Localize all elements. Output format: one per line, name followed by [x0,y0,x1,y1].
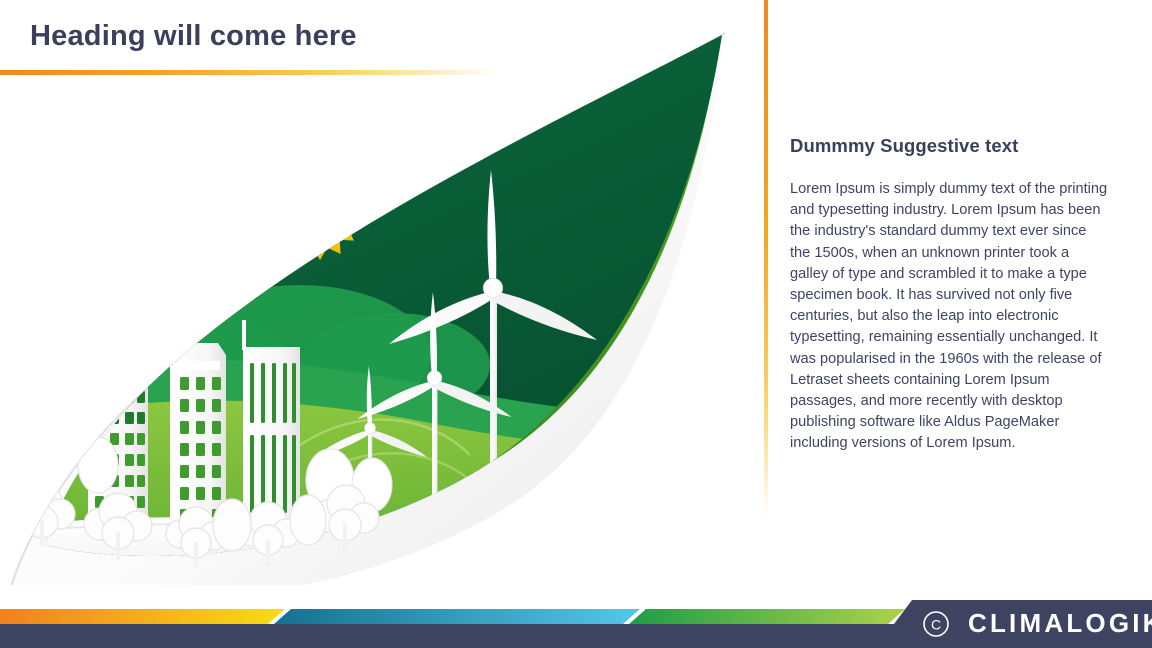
footer-segment-orange [0,609,285,624]
panel-body-text: Lorem Ipsum is simply dummy text of the … [790,179,1110,455]
slide-canvas: Heading will come here [0,0,1152,648]
brand-wordmark: CLIMALOGIK [968,608,1152,638]
footer: C CLIMALOGIK [0,600,1152,648]
panel-heading: Dummmy Suggestive text [790,135,1110,157]
footer-segment-blue [274,609,640,624]
footer-segment-green [629,609,905,624]
eco-leaf-city-illustration [0,25,760,585]
vertical-divider [764,0,768,520]
text-panel: Dummmy Suggestive text Lorem Ipsum is si… [790,135,1110,455]
svg-text:C: C [931,617,941,633]
